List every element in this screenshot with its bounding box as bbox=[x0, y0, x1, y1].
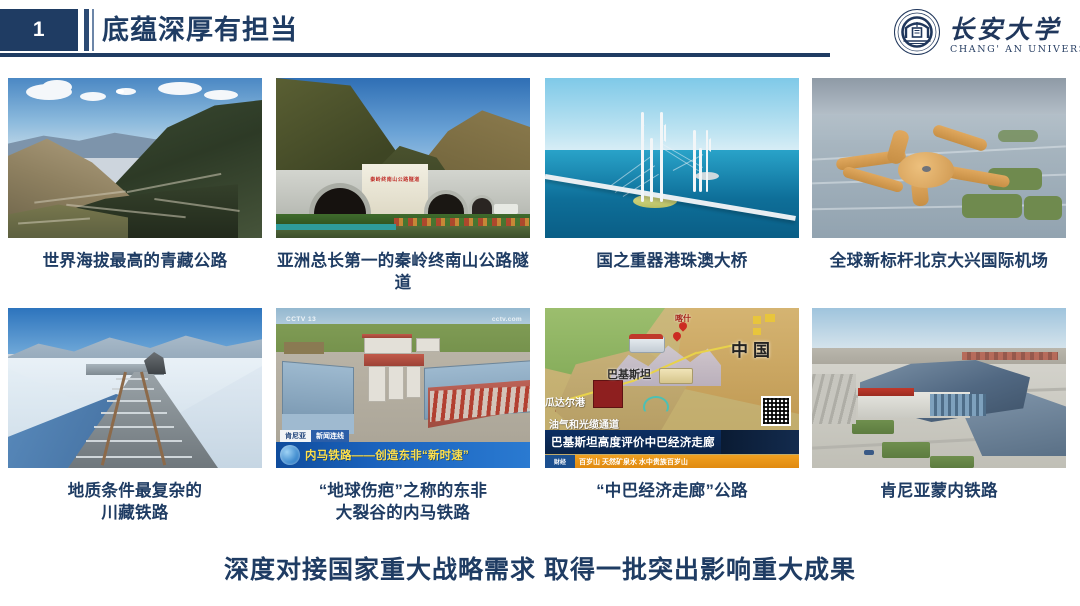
photo-sichuan-tibet-railway bbox=[8, 308, 262, 468]
project-caption: 国之重器港珠澳大桥 bbox=[545, 250, 799, 272]
project-card-mombasa-nairobi-railway[interactable]: 肯尼亚蒙内铁路 bbox=[812, 308, 1066, 502]
university-logo: 长安大学 CHANG' AN UNIVERSITY bbox=[893, 8, 1073, 60]
map-label-kashi: 喀什 bbox=[675, 313, 691, 324]
project-grid: 世界海拔最高的青藏公路 秦岭终南山公路隧道 亚洲总长第一的秦 bbox=[0, 78, 1080, 538]
photo-mombasa-nairobi-station bbox=[812, 308, 1066, 468]
qr-code-icon bbox=[761, 396, 791, 426]
bridge-tower-right bbox=[693, 130, 708, 192]
photo-nairobi-malaba-railway-news: CCTV 13 cctv.com 肯尼亚 新闻连线 内马铁路——创造东非“新时速… bbox=[276, 308, 530, 468]
slide-footer-statement: 深度对接国家重大战略需求 取得一批突出影响重大成果 bbox=[0, 550, 1080, 586]
tv-channel-logo-right: cctv.com bbox=[492, 316, 522, 323]
project-caption: “地球伤疤”之称的东非 大裂谷的内马铁路 bbox=[276, 480, 530, 525]
page-title: 底蕴深厚有担当 bbox=[102, 10, 298, 50]
logo-name-en: CHANG' AN UNIVERSITY bbox=[950, 44, 1080, 55]
slide-number-badge: 1 bbox=[0, 9, 78, 51]
map-label-china: 中国 bbox=[731, 336, 775, 361]
airport-terminal-shape bbox=[836, 130, 1012, 204]
globe-icon bbox=[280, 445, 300, 465]
project-card-sichuan-tibet-railway[interactable]: 地质条件最复杂的 川藏铁路 bbox=[8, 308, 262, 525]
project-card-cpec-highway[interactable]: SMG 版权所有 中国 巴基斯坦 瓜达尔港 油气和光缆通道 喀什 巴基斯坦高度评… bbox=[545, 308, 799, 502]
slide-number-label: 1 bbox=[33, 18, 45, 42]
photo-hzmb-bridge bbox=[545, 78, 799, 238]
news-headline-text: 巴基斯坦高度评价中巴经济走廊 bbox=[551, 434, 715, 450]
header-underline bbox=[0, 53, 830, 57]
news-ticker-bar: 百岁山 天然矿泉水 水中贵族百岁山 bbox=[545, 455, 799, 468]
tunnel-portal-inscription: 秦岭终南山公路隧道 bbox=[366, 178, 424, 184]
project-caption: 亚洲总长第一的秦岭终南山公路隧道 bbox=[276, 250, 530, 295]
project-card-daxing-airport[interactable]: 全球新标杆北京大兴国际机场 bbox=[812, 78, 1066, 272]
project-caption: 地质条件最复杂的 川藏铁路 bbox=[8, 480, 262, 525]
news-logo-box bbox=[721, 430, 799, 454]
tv-banner-text: 内马铁路——创造东非“新时速” bbox=[305, 447, 469, 463]
tv-lower-third-banner: 内马铁路——创造东非“新时速” bbox=[276, 442, 530, 468]
header-divider-thick bbox=[84, 9, 89, 51]
project-card-qinghai-tibet-highway[interactable]: 世界海拔最高的青藏公路 bbox=[8, 78, 262, 272]
project-caption: “中巴经济走廊”公路 bbox=[545, 480, 799, 502]
tv-channel-logo-left: CCTV 13 bbox=[286, 316, 316, 323]
map-label-corridor: 油气和光缆通道 bbox=[549, 416, 619, 431]
project-caption: 肯尼亚蒙内铁路 bbox=[812, 480, 1066, 502]
news-ticker-text: 百岁山 天然矿泉水 水中贵族百岁山 bbox=[579, 457, 688, 467]
university-emblem-icon bbox=[893, 8, 941, 56]
logo-name-cn: 长安大学 bbox=[949, 10, 1061, 46]
project-card-nairobi-malaba-railway[interactable]: CCTV 13 cctv.com 肯尼亚 新闻连线 内马铁路——创造东非“新时速… bbox=[276, 308, 530, 525]
photo-daxing-airport bbox=[812, 78, 1066, 238]
bridge-tower-left bbox=[641, 112, 663, 202]
slide-header: 1 底蕴深厚有担当 长安大学 CHANG' AN UNIVERSITY bbox=[0, 0, 1080, 70]
map-label-gwadar: 瓜达尔港 bbox=[545, 394, 585, 409]
photo-zhongnanshan-tunnel: 秦岭终南山公路隧道 bbox=[276, 78, 530, 238]
photo-cpec-map-news: SMG 版权所有 中国 巴基斯坦 瓜达尔港 油气和光缆通道 喀什 巴基斯坦高度评… bbox=[545, 308, 799, 468]
news-headline-bar: 巴基斯坦高度评价中巴经济走廊 bbox=[545, 430, 721, 454]
news-ticker-tag: 财经 bbox=[545, 455, 575, 468]
photo-qinghai-tibet-highway bbox=[8, 78, 262, 238]
project-caption: 世界海拔最高的青藏公路 bbox=[8, 250, 262, 272]
project-card-zhongnanshan-tunnel[interactable]: 秦岭终南山公路隧道 亚洲总长第一的秦岭终南山公路隧道 bbox=[276, 78, 530, 295]
project-card-hzmb-bridge[interactable]: 国之重器港珠澳大桥 bbox=[545, 78, 799, 272]
map-label-pakistan: 巴基斯坦 bbox=[607, 366, 651, 382]
project-row-1: 世界海拔最高的青藏公路 秦岭终南山公路隧道 亚洲总长第一的秦 bbox=[0, 78, 1080, 308]
header-divider-thin bbox=[92, 9, 94, 51]
project-row-2: 地质条件最复杂的 川藏铁路 bbox=[0, 308, 1080, 538]
project-caption: 全球新标杆北京大兴国际机场 bbox=[812, 250, 1066, 272]
